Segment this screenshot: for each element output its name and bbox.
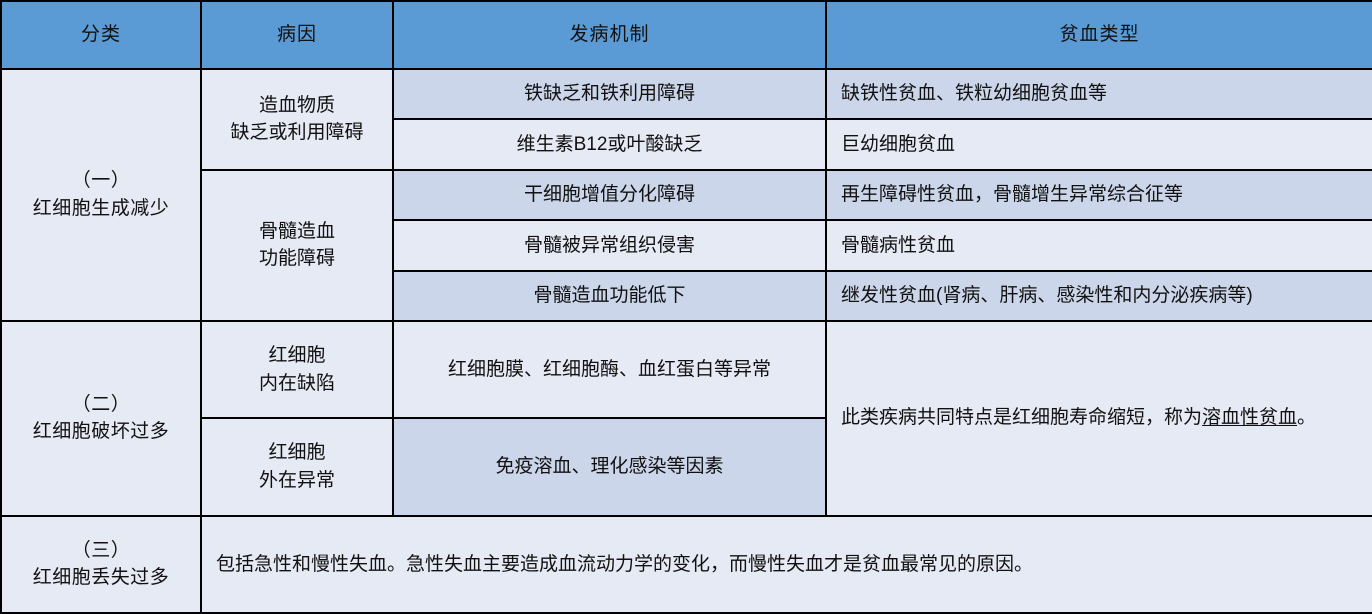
table-row: （三）红细胞丢失过多 包括急性和慢性失血。急性失血主要造成血流动力学的变化，而慢… bbox=[1, 516, 1372, 613]
anemia-type-cell-1: 缺铁性贫血、铁粒幼细胞贫血等 bbox=[826, 69, 1372, 119]
header-category: 分类 bbox=[1, 1, 201, 69]
cause-cell-4: 红细胞 外在异常 bbox=[201, 418, 393, 515]
header-anemia-type-label: 贫血类型 bbox=[1059, 21, 1139, 49]
anemia-type-cell-4: 骨髓病性贫血 bbox=[826, 220, 1372, 270]
category-number-3: （三） bbox=[72, 540, 131, 561]
anemia-type-cell-5: 继发性贫血(肾病、肝病、感染性和内分泌疾病等) bbox=[826, 271, 1372, 321]
anemia-type-cell-2: 巨幼细胞贫血 bbox=[826, 119, 1372, 169]
category-number-1: （一） bbox=[72, 170, 131, 191]
category-number-2: （二） bbox=[72, 394, 131, 415]
header-cause-label: 病因 bbox=[277, 21, 317, 49]
category-cell-1: （一）红细胞生成减少 bbox=[1, 69, 201, 321]
mechanism-cell-7: 免疫溶血、理化感染等因素 bbox=[393, 418, 826, 515]
cause-cell-3: 红细胞 内在缺陷 bbox=[201, 321, 393, 418]
mechanism-cell-3: 干细胞增值分化障碍 bbox=[393, 170, 826, 220]
header-cause: 病因 bbox=[201, 1, 393, 69]
anemia-type-cell-3: 再生障碍性贫血，骨髓增生异常综合征等 bbox=[826, 170, 1372, 220]
mechanism-cell-1: 铁缺乏和铁利用障碍 bbox=[393, 69, 826, 119]
anemia-classification-table: 分类 病因 发病机制 贫血类型 （一）红细胞生成减少 造血物质 缺乏或利用障碍 … bbox=[0, 0, 1372, 614]
table-row: （二）红细胞破坏过多 红细胞 内在缺陷 红细胞膜、红细胞酶、血红蛋白等异常 此类… bbox=[1, 321, 1372, 418]
hemolytic-note-suffix: 。 bbox=[1297, 407, 1316, 428]
mechanism-cell-5: 骨髓造血功能低下 bbox=[393, 271, 826, 321]
table-row: （一）红细胞生成减少 造血物质 缺乏或利用障碍 铁缺乏和铁利用障碍 缺铁性贫血、… bbox=[1, 69, 1372, 119]
mechanism-cell-4: 骨髓被异常组织侵害 bbox=[393, 220, 826, 270]
cause-cell-1: 造血物质 缺乏或利用障碍 bbox=[201, 69, 393, 170]
category-cell-3: （三）红细胞丢失过多 bbox=[1, 516, 201, 613]
mechanism-cell-6: 红细胞膜、红细胞酶、血红蛋白等异常 bbox=[393, 321, 826, 418]
category-label-2: 红细胞破坏过多 bbox=[33, 421, 170, 442]
header-anemia-type: 贫血类型 bbox=[826, 1, 1372, 69]
hemolytic-note-underlined: 溶血性贫血 bbox=[1202, 407, 1297, 428]
mechanism-cell-2: 维生素B12或叶酸缺乏 bbox=[393, 119, 826, 169]
category-label-1: 红细胞生成减少 bbox=[33, 198, 170, 219]
header-mechanism-label: 发病机制 bbox=[569, 21, 649, 49]
hemolytic-note-prefix: 此类疾病共同特点是红细胞寿命缩短，称为 bbox=[841, 407, 1202, 428]
table-body: （一）红细胞生成减少 造血物质 缺乏或利用障碍 铁缺乏和铁利用障碍 缺铁性贫血、… bbox=[1, 69, 1372, 613]
table-header-row: 分类 病因 发病机制 贫血类型 bbox=[1, 1, 1372, 69]
cause-cell-2: 骨髓造血 功能障碍 bbox=[201, 170, 393, 321]
header-category-label: 分类 bbox=[81, 21, 121, 49]
anemia-classification-table-wrapper: 分类 病因 发病机制 贫血类型 （一）红细胞生成减少 造血物质 缺乏或利用障碍 … bbox=[0, 0, 1372, 614]
blood-loss-note-cell: 包括急性和慢性失血。急性失血主要造成血流动力学的变化，而慢性失血才是贫血最常见的… bbox=[201, 516, 1372, 613]
anemia-type-cell-6: 此类疾病共同特点是红细胞寿命缩短，称为溶血性贫血。 bbox=[826, 321, 1372, 516]
category-cell-2: （二）红细胞破坏过多 bbox=[1, 321, 201, 516]
header-mechanism: 发病机制 bbox=[393, 1, 826, 69]
category-label-3: 红细胞丢失过多 bbox=[33, 567, 170, 588]
table-row: 骨髓造血 功能障碍 干细胞增值分化障碍 再生障碍性贫血，骨髓增生异常综合征等 bbox=[1, 170, 1372, 220]
